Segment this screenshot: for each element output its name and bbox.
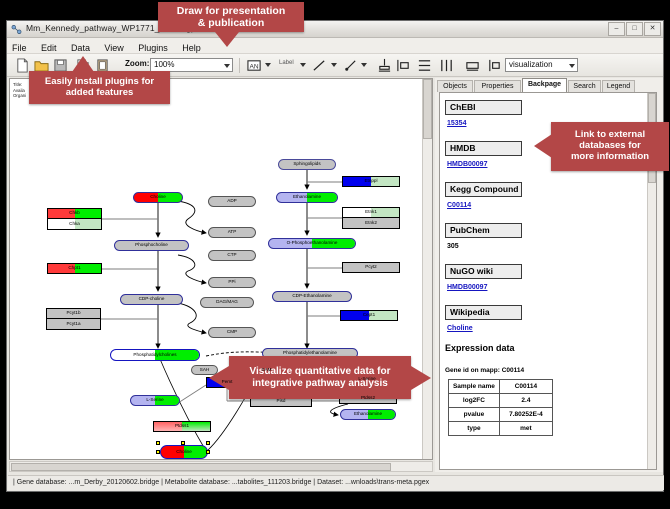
selection-handle[interactable] [206, 459, 210, 460]
hmdb-header: HMDB [445, 141, 522, 156]
selection-handle[interactable] [156, 459, 160, 460]
draw-callout-line1: Draw for presentation [177, 5, 286, 17]
table-row: type met [449, 422, 553, 436]
nugo-header: NuGO wiki [445, 264, 522, 279]
tab-properties[interactable]: Properties [474, 80, 521, 92]
pathway-metadata: Title: Availa Organi [13, 82, 26, 99]
pubchem-header: PubChem [445, 223, 522, 238]
cell-type-label: type [449, 422, 500, 436]
screenshot-root: Mm_Kennedy_pathway_WP1771_45176.gpml – □… [0, 0, 670, 509]
selection-handle[interactable] [156, 441, 160, 445]
node-etnk2[interactable]: Etnk2 [342, 218, 400, 229]
node-chka[interactable]: Chka [47, 219, 102, 230]
visualize-callout-arrow-left [209, 366, 229, 390]
anchor-line-icon[interactable] [343, 58, 358, 73]
datanode-icon[interactable]: AN [247, 58, 262, 73]
node-pcyt2[interactable]: Pcyt2 [342, 262, 400, 273]
node-cmp[interactable]: CMP [208, 327, 256, 338]
link-callout-line3: more information [571, 152, 649, 163]
align-left-icon[interactable] [396, 58, 411, 73]
node-choline-top[interactable]: Choline [133, 192, 183, 203]
selection-handle[interactable] [156, 450, 160, 454]
canvas-vertical-scrollbar[interactable] [422, 79, 432, 459]
menu-bar: File Edit Data View Plugins Help [7, 38, 663, 54]
table-row: log2FC 2.4 [449, 394, 553, 408]
order-icon[interactable] [487, 58, 502, 73]
chevron-down-icon [569, 64, 575, 68]
node-ppi[interactable]: PPi [208, 277, 256, 288]
menu-item-help[interactable]: Help [177, 41, 206, 53]
zoom-combo[interactable]: 100% [150, 58, 233, 72]
plugins-callout-line2: added features [66, 88, 134, 99]
nugo-link[interactable]: HMDB00097 [447, 284, 487, 291]
link-callout-arrow [534, 134, 552, 158]
node-phosphocholine[interactable]: Phosphocholine [114, 240, 189, 251]
visualize-callout: Visualize quantitative data for integrat… [229, 356, 411, 399]
cell-sample-name-label: Sample name [449, 380, 500, 394]
chevron-down-icon[interactable] [361, 63, 367, 67]
node-pcyt1a[interactable]: Pcyt1a [46, 319, 101, 330]
tab-backpage[interactable]: Backpage [522, 78, 567, 92]
node-ctp[interactable]: CTP [208, 250, 256, 261]
chevron-down-icon[interactable] [331, 63, 337, 67]
chebi-header: ChEBI [445, 100, 522, 115]
node-ethanolamine-top[interactable]: Ethanolamine [276, 192, 338, 203]
group-icon[interactable] [465, 58, 480, 73]
visualization-combo[interactable]: visualization [505, 58, 578, 72]
node-etnk1[interactable]: Etnk1 [342, 207, 400, 218]
meta-organism-line: Organi [13, 93, 26, 99]
draw-callout: Draw for presentation & publication [158, 2, 304, 32]
plugins-callout: Easily install plugins for added feature… [29, 71, 170, 104]
node-etnppl[interactable]: Etnppl [342, 176, 400, 187]
node-ethanolamine-bottom[interactable]: Ethanolamine [340, 409, 396, 420]
menu-item-plugins[interactable]: Plugins [133, 41, 173, 53]
node-choline-selected[interactable]: Choline [160, 445, 208, 459]
visualize-callout-arrow-right [411, 366, 431, 390]
node-adp[interactable]: ADP [208, 196, 256, 207]
menu-item-data[interactable]: Data [66, 41, 95, 53]
node-l-serine-left[interactable]: L-Serine [130, 395, 180, 406]
line-icon[interactable] [312, 58, 327, 73]
cell-pvalue-label: pvalue [449, 408, 500, 422]
chevron-down-icon [224, 64, 230, 68]
selection-handle[interactable] [206, 450, 210, 454]
chevron-down-icon[interactable] [265, 63, 271, 67]
node-ptdss1[interactable]: Ptdss1 [153, 421, 211, 432]
cell-sample-name-value: C00114 [499, 380, 552, 394]
selection-handle[interactable] [181, 441, 185, 445]
minimize-button[interactable]: – [608, 22, 625, 36]
hmdb-link[interactable]: HMDB00097 [447, 161, 487, 168]
chevron-down-icon[interactable] [300, 63, 306, 67]
status-bar: | Gene database: ...m_Derby_20120602.bri… [8, 475, 664, 490]
toolbar-separator [239, 58, 240, 73]
side-panel-tabs: Objects Properties Backpage Search Legen… [435, 78, 663, 92]
chebi-link[interactable]: 15354 [447, 120, 466, 127]
cell-pvalue-value: 7.80252E-4 [499, 408, 552, 422]
pathway-app-icon [11, 24, 22, 35]
table-row: pvalue 7.80252E-4 [449, 408, 553, 422]
kegg-link[interactable]: C00114 [447, 202, 471, 209]
selection-handle[interactable] [181, 459, 185, 460]
wikipedia-header: Wikipedia [445, 305, 522, 320]
menu-item-view[interactable]: View [99, 41, 128, 53]
draw-callout-arrow [215, 32, 239, 47]
pathway-canvas[interactable]: Title: Availa Organi [9, 78, 433, 460]
tab-search[interactable]: Search [568, 80, 601, 92]
gene-id-line: Gene id on mapp: C00114 [445, 367, 524, 374]
node-phosphatidylcholines[interactable]: Phosphatidylcholines [110, 349, 200, 361]
status-bar-text: | Gene database: ...m_Derby_20120602.bri… [13, 479, 429, 486]
node-o-phosphoethanolamine[interactable]: O-Phosphoethanolamine [268, 238, 356, 249]
wikipedia-link[interactable]: Choline [447, 325, 473, 332]
selection-handle[interactable] [206, 441, 210, 445]
close-button[interactable]: ✕ [644, 22, 661, 36]
stack-vertical-icon[interactable] [417, 58, 432, 73]
pubchem-value: 305 [447, 243, 459, 250]
node-cdp-ethanolamine[interactable]: CDP-Ethanolamine [272, 291, 352, 302]
cell-log2fc-label: log2FC [449, 394, 500, 408]
window-buttons: – □ ✕ [608, 22, 661, 36]
node-pcyt1b[interactable]: Pcyt1b [46, 308, 101, 319]
node-cept1[interactable]: Cept1 [340, 310, 398, 321]
maximize-button[interactable]: □ [626, 22, 643, 36]
distribute-icon[interactable] [439, 58, 454, 73]
node-cdp-choline[interactable]: CDP-choline [120, 294, 183, 305]
node-sphingolipids[interactable]: Sphingolipids [278, 159, 336, 170]
node-atp[interactable]: ATP [208, 227, 256, 238]
svg-text:AN: AN [249, 63, 258, 70]
title-bar: Mm_Kennedy_pathway_WP1771_45176.gpml – □… [7, 21, 663, 38]
canvas-horizontal-scrollbar[interactable] [9, 461, 433, 472]
tab-legend[interactable]: Legend [602, 80, 635, 92]
plugins-callout-line1: Easily install plugins for [45, 77, 154, 88]
cell-log2fc-value: 2.4 [499, 394, 552, 408]
node-dag-mag[interactable]: DAG/MAG [200, 297, 254, 308]
zoom-label: Zoom: [125, 59, 149, 68]
plugins-callout-arrow [72, 56, 94, 72]
table-row: Sample name C00114 [449, 380, 553, 394]
node-chkb[interactable]: Chkb [47, 208, 102, 219]
expression-table: Sample name C00114 log2FC 2.4 pvalue 7.8… [448, 379, 553, 436]
label-tool-text[interactable]: Label [279, 60, 294, 66]
zoom-value: 100% [154, 60, 174, 69]
menu-item-file[interactable]: File [7, 41, 32, 53]
kegg-header: Kegg Compound [445, 182, 522, 197]
expression-data-header: Expression data [445, 343, 515, 353]
align-top-icon[interactable] [377, 58, 392, 73]
visualization-value: visualization [509, 60, 553, 69]
link-callout: Link to external databases for more info… [551, 122, 669, 171]
menu-item-edit[interactable]: Edit [36, 41, 62, 53]
new-file-icon[interactable] [15, 58, 30, 73]
node-chpt1-left[interactable]: Chpt1 [47, 263, 102, 274]
draw-callout-line2: & publication [198, 17, 265, 29]
cell-type-value: met [499, 422, 552, 436]
tab-objects[interactable]: Objects [437, 80, 473, 92]
